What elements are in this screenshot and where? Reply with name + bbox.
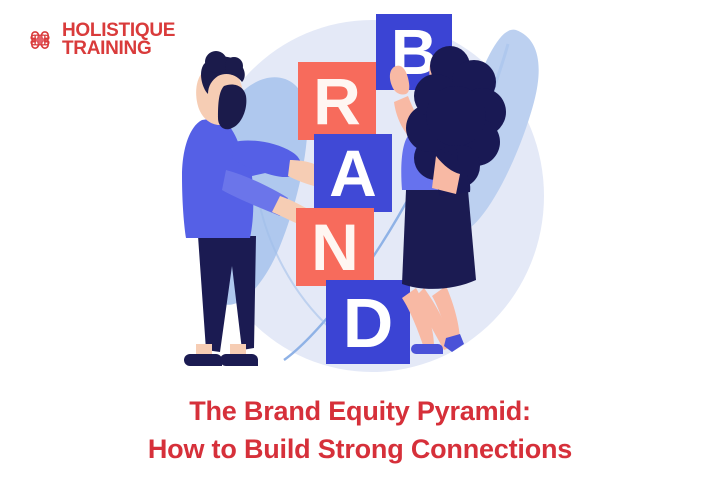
svg-text:R: R xyxy=(313,64,361,138)
interlocking-cross-logo-mark-icon xyxy=(27,27,53,53)
article-title-line-2: How to Build Strong Connections xyxy=(0,430,720,468)
hero-illustration: B R A N D xyxy=(130,0,600,390)
article-title-line-1: The Brand Equity Pyramid: xyxy=(0,392,720,430)
block-R: R xyxy=(298,62,376,140)
block-A: A xyxy=(314,134,392,212)
block-N: N xyxy=(296,208,374,286)
svg-text:D: D xyxy=(343,284,394,362)
block-D: D xyxy=(326,280,410,364)
svg-text:N: N xyxy=(311,210,359,284)
svg-text:A: A xyxy=(329,136,377,210)
article-title: The Brand Equity Pyramid: How to Build S… xyxy=(0,392,720,468)
article-hero-card: HOLISTIQUE TRAINING xyxy=(0,0,720,498)
